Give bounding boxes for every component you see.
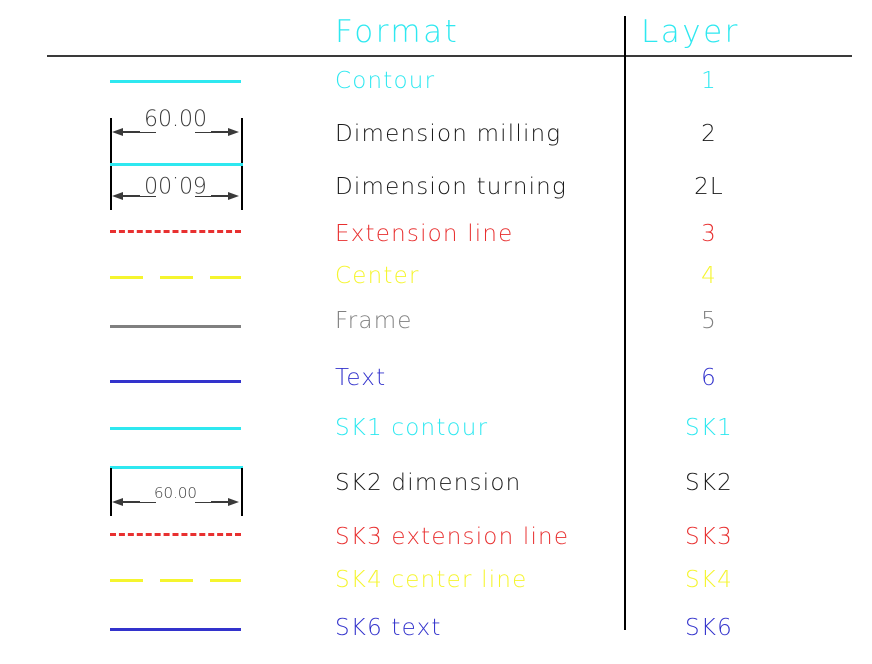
dimension-sk2-arrow-right-icon	[228, 498, 239, 506]
format-label: SK1 contour	[335, 415, 488, 441]
sample-solid-line	[110, 628, 241, 631]
sample-solid-line	[110, 380, 241, 383]
sample-solid-line	[110, 325, 241, 328]
format-label: SK3 extension line	[335, 524, 569, 550]
layer-value: 3	[624, 221, 794, 247]
layer-value: 2L	[624, 174, 794, 200]
format-label: Text	[335, 365, 386, 391]
layer-value: 1	[624, 68, 794, 94]
layer-value: SK2	[624, 470, 794, 496]
sample-solid-line	[110, 427, 241, 430]
sk2-extension-line-right	[241, 468, 243, 516]
column-header-format: Format	[335, 14, 459, 50]
format-label: SK6 text	[335, 615, 442, 641]
format-label: Extension line	[335, 221, 514, 247]
layer-value: 6	[624, 365, 794, 391]
layer-value: SK6	[624, 615, 794, 641]
format-label: SK2 dimension	[335, 470, 521, 496]
dimension-turning-arrow-right-icon	[228, 192, 239, 200]
sk2-extension-line-left	[110, 468, 112, 516]
drawing-legend-table: Format Layer 60.0060.0060.00 ContourDime…	[0, 0, 872, 664]
dimension-milling-value: 60.00	[140, 107, 211, 132]
sample-solid-line	[110, 80, 241, 83]
format-label: Frame	[335, 308, 413, 334]
dimension-turning-arrow-left-icon	[112, 192, 123, 200]
sample-dashed-short-line	[110, 230, 241, 233]
layer-value: SK4	[624, 567, 794, 593]
format-label: Center	[335, 263, 420, 289]
dimension-turning-value: 60.00	[140, 171, 211, 196]
column-header-layer: Layer	[641, 14, 740, 50]
layer-value: 4	[624, 263, 794, 289]
format-label: SK4 center line	[335, 567, 527, 593]
sample-dashed-short-line	[110, 533, 241, 536]
dimension-sk2-arrow-left-icon	[112, 498, 123, 506]
layer-value: 2	[624, 121, 794, 147]
layer-value: 5	[624, 308, 794, 334]
layer-value: SK3	[624, 524, 794, 550]
dimension-milling-arrow-right-icon	[228, 128, 239, 136]
sample-dashed-long-line	[110, 276, 241, 279]
header-horizontal-rule	[47, 55, 852, 57]
format-label: Dimension turning	[335, 174, 567, 200]
sample-dashed-long-line	[110, 579, 241, 582]
layer-value: SK1	[624, 415, 794, 441]
dimension-milling-arrow-left-icon	[112, 128, 123, 136]
sk2-contour-line	[110, 466, 243, 469]
dimension-contour-line	[110, 163, 243, 166]
format-label: Contour	[335, 68, 435, 94]
format-label: Dimension milling	[335, 121, 561, 147]
dimension-sk2-value: 60.00	[140, 484, 211, 502]
